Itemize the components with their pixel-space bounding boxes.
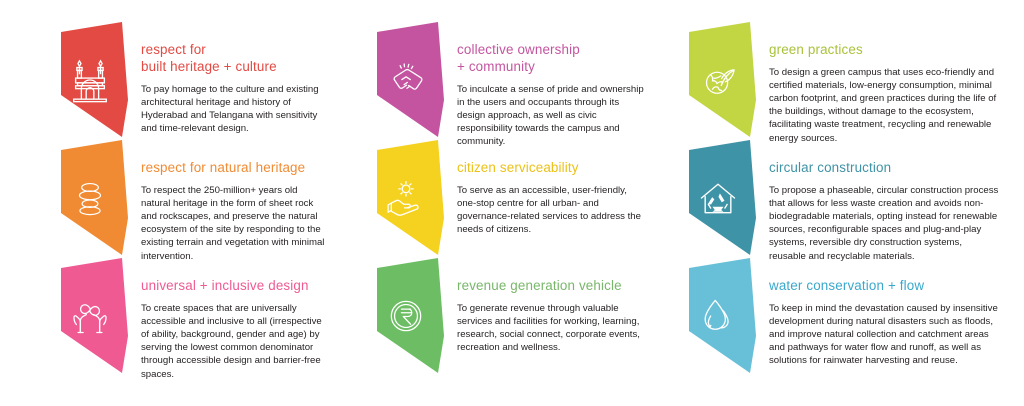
- badge-polygon: [368, 140, 444, 255]
- card-title: water conservation + flow: [769, 278, 1001, 295]
- card-description: To serve as an accessible, user-friendly…: [457, 184, 647, 237]
- card-text: collective ownership + community To incu…: [444, 22, 647, 148]
- card-text: citizen serviceability To serve as an ac…: [444, 140, 647, 236]
- card-universal-inclusive-design: universal + inclusive design To create s…: [52, 258, 327, 381]
- card-badge: [52, 258, 128, 373]
- card-badge: [368, 22, 444, 137]
- card-citizen-serviceability: citizen serviceability To serve as an ac…: [368, 140, 647, 255]
- card-badge: [368, 140, 444, 255]
- card-text: revenue generation vehicle To generate r…: [444, 258, 647, 354]
- card-badge: [52, 140, 128, 255]
- principles-infographic: respect for built heritage + culture To …: [0, 0, 1024, 406]
- card-title: citizen serviceability: [457, 160, 647, 177]
- badge-polygon: [680, 258, 756, 373]
- card-respect-for-natural-heritage: respect for natural heritage To respect …: [52, 140, 327, 263]
- card-badge: [368, 258, 444, 373]
- card-title: circular construction: [769, 160, 1001, 177]
- card-text: respect for natural heritage To respect …: [128, 140, 327, 263]
- card-description: To design a green campus that uses eco-f…: [769, 66, 1001, 145]
- card-badge: [680, 140, 756, 255]
- card-title: universal + inclusive design: [141, 278, 327, 295]
- card-circular-construction: circular construction To propose a phase…: [680, 140, 1001, 263]
- badge-polygon: [52, 140, 128, 255]
- card-text: green practices To design a green campus…: [756, 22, 1001, 145]
- card-text: circular construction To propose a phase…: [756, 140, 1001, 263]
- card-description: To create spaces that are universally ac…: [141, 302, 327, 381]
- card-collective-ownership-community: collective ownership + community To incu…: [368, 22, 647, 148]
- card-description: To propose a phaseable, circular constru…: [769, 184, 1001, 263]
- card-title: respect for built heritage + culture: [141, 42, 327, 76]
- card-respect-for-built-heritage-culture: respect for built heritage + culture To …: [52, 22, 327, 137]
- card-text: water conservation + flow To keep in min…: [756, 258, 1001, 368]
- card-description: To inculcate a sense of pride and owners…: [457, 83, 647, 149]
- card-water-conservation-flow: water conservation + flow To keep in min…: [680, 258, 1001, 373]
- badge-polygon: [52, 22, 128, 137]
- badge-polygon: [368, 258, 444, 373]
- card-description: To pay homage to the culture and existin…: [141, 83, 327, 136]
- badge-polygon: [52, 258, 128, 373]
- card-title: collective ownership + community: [457, 42, 647, 76]
- badge-polygon: [680, 22, 756, 137]
- card-title: revenue generation vehicle: [457, 278, 647, 295]
- card-description: To respect the 250-million+ years old na…: [141, 184, 327, 263]
- badge-polygon: [680, 140, 756, 255]
- card-badge: [52, 22, 128, 137]
- card-text: respect for built heritage + culture To …: [128, 22, 327, 135]
- card-title: green practices: [769, 42, 1001, 59]
- card-revenue-generation-vehicle: revenue generation vehicle To generate r…: [368, 258, 647, 373]
- card-description: To generate revenue through valuable ser…: [457, 302, 647, 355]
- badge-polygon: [368, 22, 444, 137]
- card-text: universal + inclusive design To create s…: [128, 258, 327, 381]
- card-title: respect for natural heritage: [141, 160, 327, 177]
- card-badge: [680, 22, 756, 137]
- card-description: To keep in mind the devastation caused b…: [769, 302, 1001, 368]
- card-badge: [680, 258, 756, 373]
- card-green-practices: green practices To design a green campus…: [680, 22, 1001, 145]
